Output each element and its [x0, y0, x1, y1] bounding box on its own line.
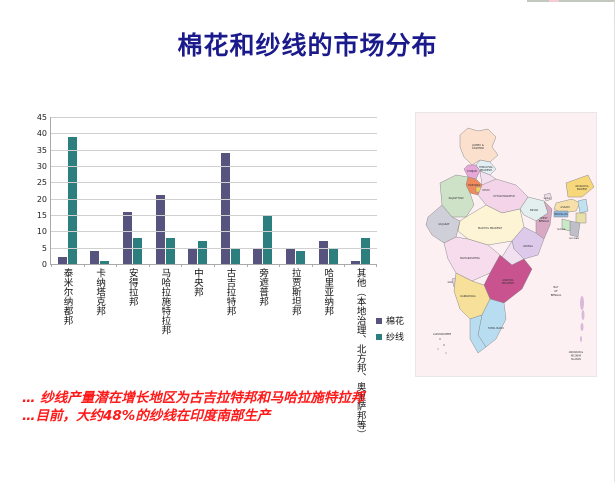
svg-text:MADHYA PRADESH: MADHYA PRADESH	[478, 226, 502, 230]
svg-text:MAHARASHTRA: MAHARASHTRA	[460, 256, 480, 260]
chart-x-label-cell: 其他（本地治理、北方邦、奥里萨邦等）	[343, 268, 376, 380]
chart-gridline	[51, 117, 377, 118]
india-map-svg: JAMMU &KASHMIR HIMACHALPRADESH PUNJAB HA…	[416, 113, 596, 376]
svg-text:GOA: GOA	[448, 281, 453, 284]
chart-bar	[133, 238, 142, 264]
chart-x-label: 卡纳塔克邦	[94, 268, 105, 380]
svg-text:PRADESH: PRADESH	[502, 281, 514, 285]
chart-bar-group	[181, 117, 214, 264]
chart-x-label-cell: 泰米尔纳都邦	[50, 268, 83, 380]
chart-x-label: 旁遮普邦	[257, 268, 268, 380]
chart-bar	[156, 195, 165, 264]
svg-text:PRADESH: PRADESH	[577, 188, 588, 191]
chart-x-label-cell: 拉贾斯坦邦	[278, 268, 311, 380]
chart-gridline	[51, 133, 377, 134]
chart-x-label: 中央邦	[191, 268, 202, 380]
svg-text:DELHI: DELHI	[483, 189, 490, 192]
chart-y-tick-label: 10	[37, 231, 47, 232]
chart-bar	[319, 241, 328, 264]
chart-x-label: 其他（本地治理、北方邦、奥里萨邦等）	[355, 268, 365, 380]
chart-x-label-cell: 安得拉邦	[115, 268, 148, 380]
svg-text:TRIPURA: TRIPURA	[557, 228, 566, 231]
chart-gridline	[51, 182, 377, 183]
chart-x-label-cell: 中央邦	[180, 268, 213, 380]
chart-bar	[68, 137, 77, 264]
svg-text:BAY: BAY	[554, 285, 559, 289]
svg-text:UTTAR PRADESH: UTTAR PRADESH	[493, 194, 515, 198]
chart-bar-group	[344, 117, 377, 264]
chart-bar	[198, 241, 207, 264]
chart-bar	[361, 238, 370, 264]
chart-gridline	[51, 166, 377, 167]
chart-x-label-cell: 马哈拉施特拉邦	[148, 268, 181, 380]
svg-text:OF: OF	[554, 289, 558, 293]
legend-label-yarn: 纱线	[386, 330, 404, 343]
slide-canvas: 棉花和纱线的市场分布 051015202530354045 泰米尔纳都邦卡纳塔克…	[0, 0, 615, 482]
decorative-pink-tick	[549, 0, 559, 2]
decorative-corner-frame	[527, 0, 615, 22]
svg-text:ORISSA: ORISSA	[523, 244, 533, 248]
chart-bar-group	[214, 117, 247, 264]
note-line-1: … 纱线产量潜在增长地区为古吉拉特邦和马哈拉施特拉邦	[22, 390, 364, 406]
chart-y-tick-label: 0	[42, 264, 47, 265]
chart-bar	[123, 212, 132, 264]
chart-y-tick-label: 30	[37, 166, 47, 167]
chart-bar-group	[116, 117, 149, 264]
chart-bar	[329, 248, 338, 264]
chart-bar	[166, 238, 175, 264]
bar-chart: 051015202530354045 泰米尔纳都邦卡纳塔克邦安得拉邦马哈拉施特拉…	[18, 108, 396, 378]
chart-bar	[296, 251, 305, 264]
chart-y-tick-label: 40	[37, 133, 47, 134]
chart-y-tick-label: 15	[37, 215, 47, 216]
chart-x-axis-labels: 泰米尔纳都邦卡纳塔克邦安得拉邦马哈拉施特拉邦中央邦古吉拉特邦旁遮普邦拉贾斯坦邦哈…	[50, 268, 376, 380]
svg-text:ISLANDS: ISLANDS	[571, 358, 582, 361]
svg-text:TAMIL NADU: TAMIL NADU	[488, 326, 504, 330]
svg-text:RAJASTHAN: RAJASTHAN	[449, 196, 464, 200]
chart-y-tick-label: 45	[37, 117, 47, 118]
chart-bar	[286, 248, 295, 264]
note-line-2: …目前，大约48%的纱线在印度南部生产	[22, 407, 402, 425]
chart-bar	[90, 251, 99, 264]
svg-text:BIHAR: BIHAR	[530, 208, 538, 212]
chart-y-tick-label: 5	[42, 248, 47, 249]
legend-swatch-yarn	[376, 334, 382, 340]
svg-text:KASHMIR: KASHMIR	[472, 146, 484, 150]
chart-y-tick-label: 20	[37, 199, 47, 200]
chart-x-label: 古吉拉特邦	[224, 268, 235, 380]
chart-gridline	[51, 248, 377, 249]
svg-text:KARNATAKA: KARNATAKA	[460, 294, 476, 298]
chart-bar	[253, 248, 262, 264]
chart-bar-group	[247, 117, 280, 264]
svg-text:MEGHALAYA: MEGHALAYA	[554, 213, 568, 216]
chart-bar	[231, 248, 240, 264]
footer-notes: … 纱线产量潜在增长地区为古吉拉特邦和马哈拉施特拉邦 …目前，大约48%的纱线在…	[22, 389, 402, 425]
page-title: 棉花和纱线的市场分布	[0, 26, 615, 62]
chart-gridline	[51, 150, 377, 151]
chart-bars-container	[51, 117, 377, 264]
chart-x-label-cell: 古吉拉特邦	[213, 268, 246, 380]
chart-x-label-cell: 卡纳塔克邦	[83, 268, 116, 380]
chart-x-label: 安得拉邦	[126, 268, 137, 380]
svg-text:LAKSHADWEEP: LAKSHADWEEP	[433, 333, 452, 336]
chart-bar-group	[312, 117, 345, 264]
svg-text:MIZORAM: MIZORAM	[569, 237, 579, 240]
chart-bar	[188, 248, 197, 264]
chart-plot-area: 051015202530354045	[50, 117, 377, 265]
legend-swatch-cotton	[376, 318, 382, 324]
chart-bar-group	[84, 117, 117, 264]
chart-gridline	[51, 231, 377, 232]
chart-bar-group	[279, 117, 312, 264]
chart-x-label: 泰米尔纳都邦	[61, 268, 72, 380]
svg-text:PUNJAB: PUNJAB	[467, 169, 477, 173]
svg-text:GUJARAT: GUJARAT	[438, 222, 450, 226]
chart-x-label: 马哈拉施特拉邦	[159, 268, 170, 380]
svg-text:HARYANA: HARYANA	[468, 183, 480, 187]
chart-y-tick-label: 35	[37, 150, 47, 151]
svg-text:SIKKIM: SIKKIM	[543, 198, 550, 200]
chart-y-tick-label: 25	[37, 182, 47, 183]
chart-gridline	[51, 264, 377, 265]
chart-x-label-cell: 旁遮普邦	[246, 268, 279, 380]
svg-text:ASSAM: ASSAM	[560, 205, 569, 209]
chart-x-label: 哈里亚纳邦	[322, 268, 333, 380]
chart-gridline	[51, 215, 377, 216]
svg-text:BENGAL: BENGAL	[539, 219, 550, 223]
chart-x-label-cell: 哈里亚纳邦	[311, 268, 344, 380]
chart-bar-group	[51, 117, 84, 264]
chart-gridline	[51, 199, 377, 200]
chart-bar-group	[149, 117, 182, 264]
legend-label-cotton: 棉花	[386, 314, 404, 327]
svg-text:BENGAL: BENGAL	[551, 293, 562, 297]
svg-text:PRADESH: PRADESH	[480, 168, 492, 172]
india-map-image: JAMMU &KASHMIR HIMACHALPRADESH PUNJAB HA…	[415, 112, 597, 377]
chart-bar	[263, 215, 272, 264]
chart-x-label: 拉贾斯坦邦	[289, 268, 300, 380]
